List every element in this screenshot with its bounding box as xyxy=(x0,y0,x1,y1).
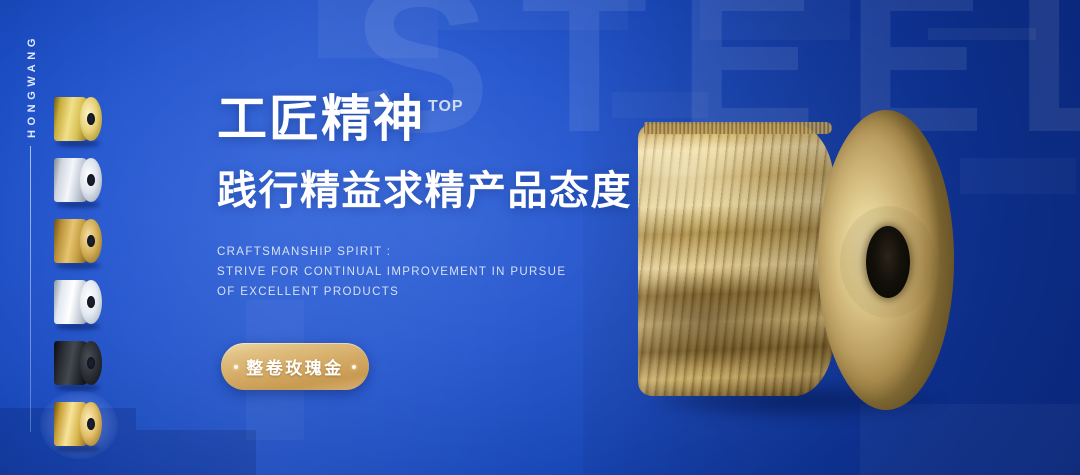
thumbnail-coil-silver[interactable] xyxy=(52,157,104,203)
english-tagline-line-2: STRIVE FOR CONTINUAL IMPROVEMENT IN PURS… xyxy=(217,262,566,282)
page-title: 工匠精神 xyxy=(217,92,425,146)
hero-coil-wound-surface xyxy=(638,124,834,396)
thumbnail-coil-gold[interactable] xyxy=(52,96,104,142)
product-cta-button[interactable]: 整卷玫瑰金 xyxy=(221,343,369,390)
thumbnail-coil-rose-gold[interactable] xyxy=(52,401,104,447)
coil-icon-silver xyxy=(52,157,104,203)
product-thumbnail-list xyxy=(52,96,114,462)
page-subtitle: 践行精益求精产品态度 xyxy=(217,168,632,214)
hero-banner: STEEL HONGWANG xyxy=(0,0,1080,475)
thumbnail-coil-brass[interactable] xyxy=(52,218,104,264)
hero-steel-coil-image xyxy=(636,110,954,410)
thumbnail-coil-chrome[interactable] xyxy=(52,279,104,325)
coil-icon-gold xyxy=(52,96,104,142)
vertical-divider-line xyxy=(30,146,31,432)
thumbnail-coil-black[interactable] xyxy=(52,340,104,386)
dot-icon-left xyxy=(234,365,238,369)
english-tagline-line-3: OF EXCELLENT PRODUCTS xyxy=(217,282,566,302)
dot-icon-right xyxy=(352,365,356,369)
brand-name-text: HONGWANG xyxy=(26,34,38,138)
coil-icon-chrome xyxy=(52,279,104,325)
coil-icon-brass xyxy=(52,218,104,264)
hero-coil-center-hole xyxy=(866,226,910,298)
english-tagline-line-1: CRAFTSMANSHIP SPIRIT : xyxy=(217,242,566,262)
product-cta-label: 整卷玫瑰金 xyxy=(246,354,344,379)
english-tagline: CRAFTSMANSHIP SPIRIT : STRIVE FOR CONTIN… xyxy=(217,242,566,302)
hero-coil-top-edge xyxy=(644,122,832,134)
headline-row: 工匠精神 TOP xyxy=(217,92,464,146)
coil-icon-black xyxy=(52,340,104,386)
top-badge: TOP xyxy=(428,98,464,116)
coil-icon-rose-gold xyxy=(52,401,104,447)
